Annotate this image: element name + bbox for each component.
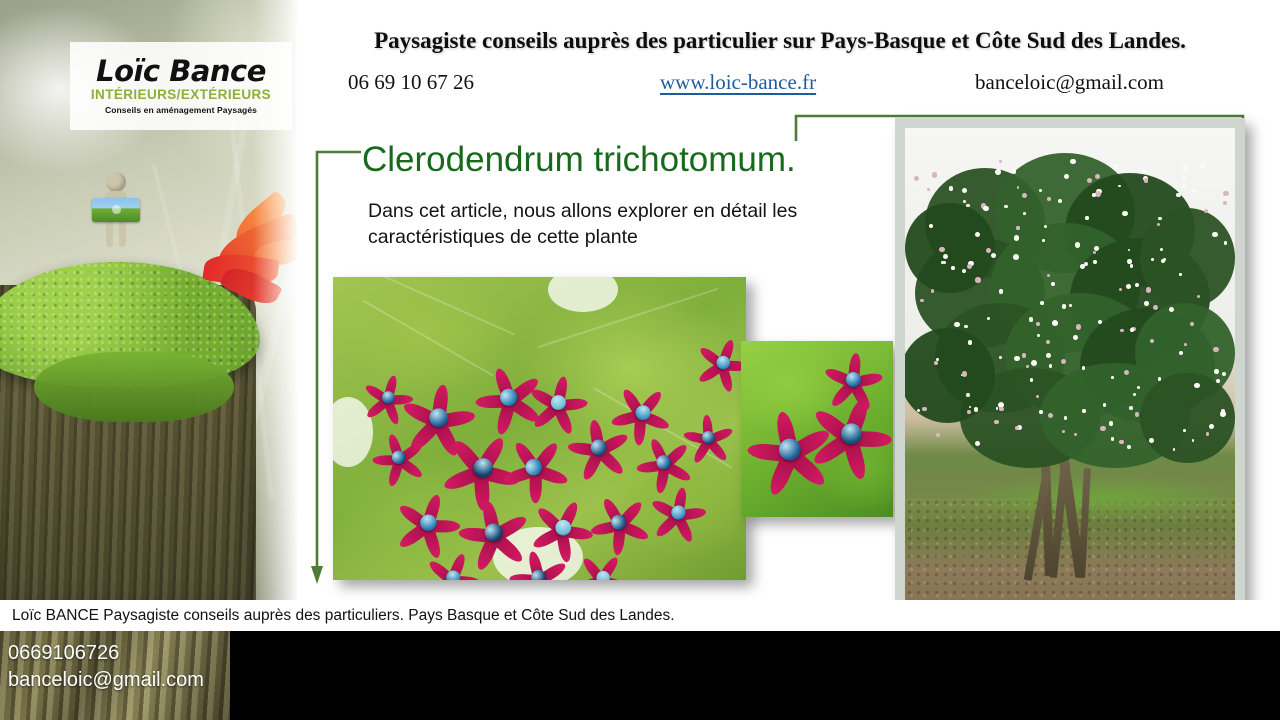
blossom [1016,226,1019,229]
page-subtitle: Dans cet article, nous allons explorer e… [368,198,818,251]
blossom [1146,287,1152,293]
header-email: banceloic@gmail.com [975,70,1164,95]
blossom [1130,328,1134,332]
blossom [1114,164,1117,167]
photo-tree [895,118,1245,666]
blossom [1150,339,1154,343]
blossom [1214,369,1218,373]
blossom [931,289,934,292]
blossom [920,299,923,302]
blossom [1212,232,1217,237]
blossom [1015,426,1019,430]
blossom [1158,377,1161,380]
blossom [975,277,980,282]
puzzle-piece-icon [92,198,140,222]
moss-patch [34,352,234,422]
blossom [1051,282,1055,286]
blossom [1124,370,1129,375]
blossom [1092,193,1096,197]
blossom [1126,284,1131,289]
blossom [1223,191,1228,196]
blossom [986,248,991,253]
blossom [932,172,937,177]
blossom [1213,347,1218,352]
blossom [968,340,973,345]
figurine [95,172,137,258]
blossom [1111,437,1114,440]
berry [845,371,861,387]
blossom [1029,317,1034,322]
blossom [1119,440,1123,444]
blossom [999,289,1003,293]
footer-contact: 0669106726 banceloic@gmail.com [8,640,204,694]
blossom [943,254,948,259]
blossom [1073,335,1078,340]
blossom [1017,186,1020,189]
blossom [1184,343,1187,346]
blossom [1153,305,1158,310]
blossom [1046,353,1051,358]
blossom [1040,301,1044,305]
blossom [1209,424,1214,429]
blossom [1036,322,1040,326]
blossom [1190,322,1194,326]
company-logo: Loïc Bance INTÉRIEURS/EXTÉRIEURS Conseil… [70,42,292,130]
foliage-blob [1140,373,1235,463]
blossom [1127,259,1131,263]
blossom [1182,176,1185,179]
page-title: Clerodendrum trichotomum. [362,140,796,180]
blossom [1176,193,1180,197]
blossom [1014,356,1020,362]
photo-fruits-pair [741,341,893,517]
blossom [1039,189,1042,192]
blossom [1026,365,1029,368]
footer-band: Loïc BANCE Paysagiste conseils auprès de… [0,600,1280,631]
blossom [966,393,970,397]
blossom [1048,413,1053,418]
blossom [1085,216,1088,219]
leaf-background [741,341,893,517]
blossom [1064,416,1068,420]
logo-tagline: Conseils en aménagement Paysagés [105,105,257,115]
photo-fruits-closeup [333,277,746,580]
blossom [1220,411,1226,417]
blossom [983,206,989,212]
blossom [939,247,944,252]
blossom [1070,159,1076,165]
blossom [967,410,971,414]
blossom [1173,448,1176,451]
blossom [1103,403,1106,406]
blossom [987,317,990,320]
blossom [1095,191,1101,197]
blossom [1182,165,1188,171]
blossom [1069,304,1072,307]
blossom [1031,360,1037,366]
blossom [1122,211,1127,216]
logo-subtitle: INTÉRIEURS/EXTÉRIEURS [91,87,271,102]
blossom [1222,372,1226,376]
blossom [1223,201,1227,205]
blossom [922,407,926,411]
logo-name: Loïc Bance [96,57,266,86]
blossom [1036,395,1039,398]
blossom [1047,274,1050,277]
blossom [927,188,930,191]
blossom [951,266,955,270]
blossom [1062,304,1066,308]
blossom [1087,178,1092,183]
blossom [1023,212,1026,215]
footer-band-text: Loïc BANCE Paysagiste conseils auprès de… [0,607,675,625]
blossom [1163,258,1166,261]
blossom [1179,273,1182,276]
left-bracket-arrowhead [311,566,323,584]
header-website-link[interactable]: www.loic-bance.fr [660,70,816,95]
blossom [1129,406,1133,410]
blossom [1030,378,1033,381]
blossom [943,261,946,264]
page-tagline: Paysagiste conseils auprès des particuli… [300,28,1260,54]
foliage-blob [905,203,995,293]
blossom [1075,242,1081,248]
blossom [964,325,967,328]
footer-email: banceloic@gmail.com [8,667,204,694]
figurine-head [106,172,126,192]
blossom [954,322,960,328]
blossom [1119,288,1122,291]
blossom [1076,324,1082,330]
blossom [975,441,980,446]
blossom [1151,258,1154,261]
blossom [995,169,1001,175]
blossom [1144,301,1149,306]
blossom [1204,209,1208,213]
blossom [1191,189,1195,193]
header-contact-row: 06 69 10 67 26 www.loic-bance.fr bancelo… [330,70,1230,100]
blossom [1011,168,1015,172]
blossom [1111,376,1114,379]
blossom [991,253,996,258]
blossom [1062,430,1065,433]
header-phone: 06 69 10 67 26 [348,70,474,95]
berry [701,430,715,444]
blossom [1042,239,1045,242]
blossom [1130,264,1133,267]
blossom [1192,439,1195,442]
blossom [936,433,940,437]
blossom [1149,438,1154,443]
tree-photo-inner [905,128,1235,656]
blossom [1135,412,1139,416]
blossom [1022,193,1027,198]
footer-phone: 0669106726 [8,640,204,667]
blossom [1082,409,1085,412]
foliage-blob [1140,208,1235,308]
blossom [1109,421,1113,425]
blossom [1047,197,1050,200]
blossom [1100,426,1106,432]
blossom [1183,184,1187,188]
